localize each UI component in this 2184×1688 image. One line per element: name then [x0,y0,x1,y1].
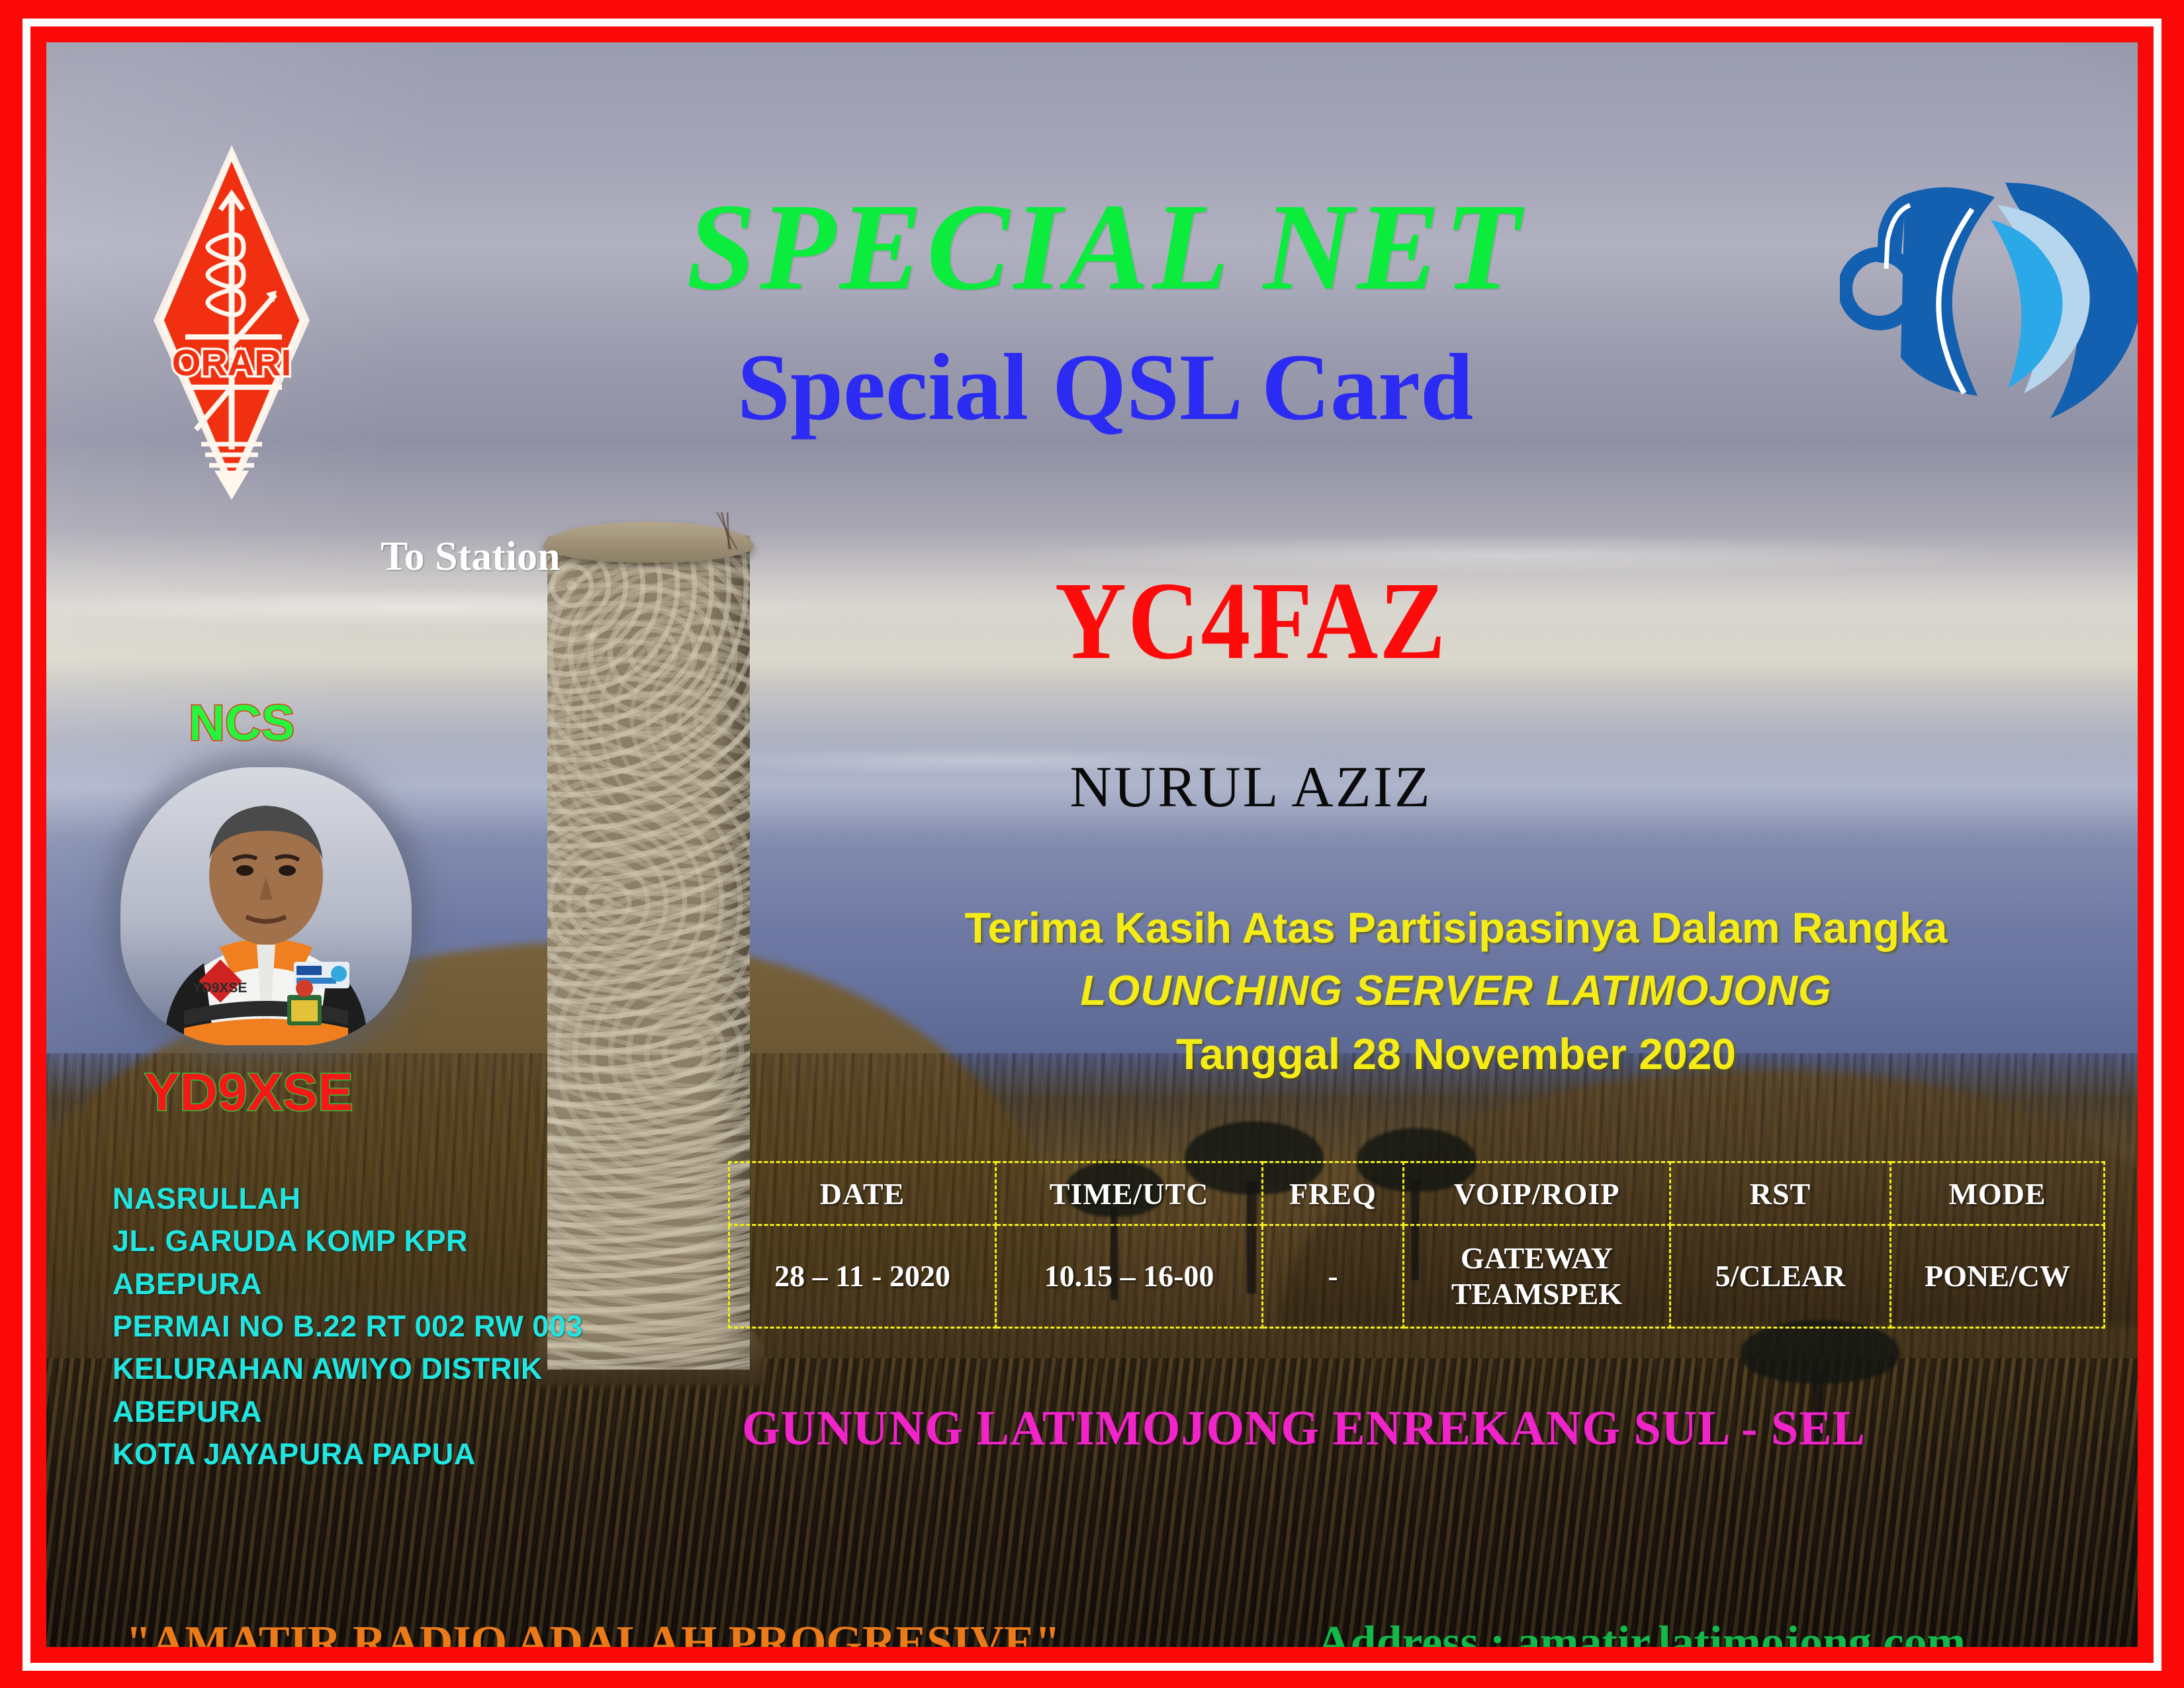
ncs-callsign: YD9XSE [144,1062,353,1123]
page-title-special-net: SPECIAL NET [470,185,1741,309]
recipient-address-block: NASRULLAH JL. GARUDA KOMP KPR ABEPURA PE… [113,1178,583,1476]
orari-logo: ORARI [146,138,318,502]
thanks-line-2: LOUNCHING SERVER LATIMOJONG [827,966,2085,1015]
thanks-line-3: Tanggal 28 November 2020 [827,1029,2085,1079]
frame-white-gap: ORARI [23,19,2161,1671]
cell-rst: 5/CLEAR [1670,1225,1891,1328]
headset-soundwave-logo [1840,142,2138,420]
address-line: PERMAI NO B.22 RT 002 RW 003 [113,1305,583,1348]
table-header-row: DATE TIME/UTC FREQ VOIP/ROIP RST MODE [729,1162,2105,1225]
card-content: ORARI [46,42,2138,1647]
orari-logo-icon: ORARI [146,138,318,502]
cell-voip: GATEWAY TEAMSPEK [1404,1225,1670,1328]
ncs-operator-photo: YD9XSE [120,767,412,1045]
qso-log-table: DATE TIME/UTC FREQ VOIP/ROIP RST MODE 28… [728,1161,2105,1329]
table-row: 28 – 11 - 2020 10.15 – 16-00 - GATEWAY T… [729,1225,2105,1328]
table-header-time: TIME/UTC [996,1162,1263,1225]
orari-logo-text: ORARI [172,342,291,383]
to-station-label: To Station [381,534,561,581]
qsl-card-frame: ORARI [0,0,2184,1688]
mountain-location-caption: GUNUNG LATIMOJONG ENREKANG SUL - SEL [675,1401,1933,1457]
table-header-freq: FREQ [1263,1162,1404,1225]
cell-mode: PONE/CW [1891,1225,2105,1328]
address-line: JL. GARUDA KOMP KPR [113,1220,583,1262]
cell-time: 10.15 – 16-00 [996,1225,1263,1328]
avatar: YD9XSE [120,767,412,1045]
address-line: ABEPURA [113,1391,583,1433]
cell-date: 28 – 11 - 2020 [729,1225,996,1328]
address-line: NASRULLAH [113,1178,583,1220]
uniform-callsign-text: YD9XSE [193,980,248,996]
page-subtitle-qsl-card: Special QSL Card [470,340,1741,436]
footer-slogan: "AMATIR RADIO ADALAH PROGRESIVE" [126,1617,1060,1647]
operator-name: NURUL AZIZ [788,754,1714,821]
footer-web-address: Address : amatir.latimojong.com [1317,1617,1966,1647]
headset-soundwave-icon [1840,142,2138,420]
cell-freq: - [1263,1225,1404,1328]
address-line: KELURAHAN AWIYO DISTRIK [113,1348,583,1390]
address-line: ABEPURA [113,1263,583,1305]
frame-inner-red-border: ORARI [30,26,2154,1663]
table-header-rst: RST [1670,1162,1891,1225]
station-callsign: YC4FAZ [788,565,1714,677]
cell-voip-line1: GATEWAY [1404,1241,1669,1276]
table-header-date: DATE [729,1162,996,1225]
ncs-label: NCS [189,694,295,752]
card-background-photo: ORARI [46,42,2138,1647]
cell-voip-line2: TEAMSPEK [1404,1276,1669,1312]
table-header-mode: MODE [1891,1162,2105,1225]
table-header-voip: VOIP/ROIP [1404,1162,1670,1225]
address-line: KOTA JAYAPURA PAPUA [113,1433,583,1476]
thanks-line-1: Terima Kasih Atas Partisipasinya Dalam R… [827,903,2085,953]
